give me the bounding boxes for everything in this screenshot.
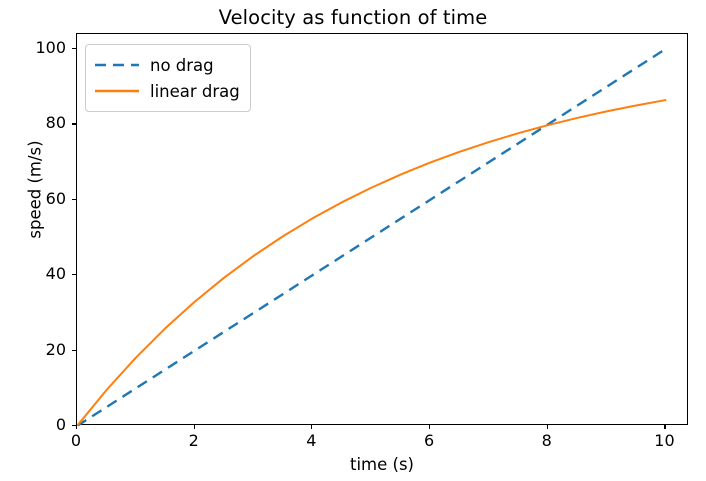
legend-item-linear-drag: linear drag (95, 78, 240, 104)
x-tick-label: 4 (281, 431, 341, 450)
y-tick-mark (72, 123, 76, 124)
y-tick-label: 0 (0, 415, 66, 434)
y-tick-mark (72, 425, 76, 426)
y-axis-label: speed (m/s) (26, 70, 45, 310)
x-tick-label: 8 (517, 431, 577, 450)
x-tick-mark (194, 425, 195, 429)
series-line-linear-drag (77, 100, 665, 426)
x-tick-label: 6 (399, 431, 459, 450)
legend-swatch-no-drag (95, 58, 139, 72)
x-tick-mark (664, 425, 665, 429)
legend-label-linear-drag: linear drag (150, 82, 240, 101)
x-tick-mark (547, 425, 548, 429)
y-tick-mark (72, 199, 76, 200)
chart-legend: no drag linear drag (85, 44, 251, 112)
legend-item-no-drag: no drag (95, 52, 240, 78)
chart-title: Velocity as function of time (0, 6, 706, 29)
x-tick-mark (311, 425, 312, 429)
y-tick-mark (72, 350, 76, 351)
legend-swatch-linear-drag (95, 84, 139, 98)
y-tick-mark (72, 274, 76, 275)
y-tick-label: 20 (0, 340, 66, 359)
legend-label-no-drag: no drag (150, 56, 214, 75)
y-tick-mark (72, 48, 76, 49)
y-tick-label: 100 (0, 38, 66, 57)
x-tick-label: 10 (634, 431, 694, 450)
x-tick-mark (429, 425, 430, 429)
x-tick-mark (76, 425, 77, 429)
x-tick-label: 2 (164, 431, 224, 450)
matplotlib-figure: Velocity as function of time 0246810 020… (0, 0, 706, 481)
x-axis-label: time (s) (76, 455, 688, 474)
